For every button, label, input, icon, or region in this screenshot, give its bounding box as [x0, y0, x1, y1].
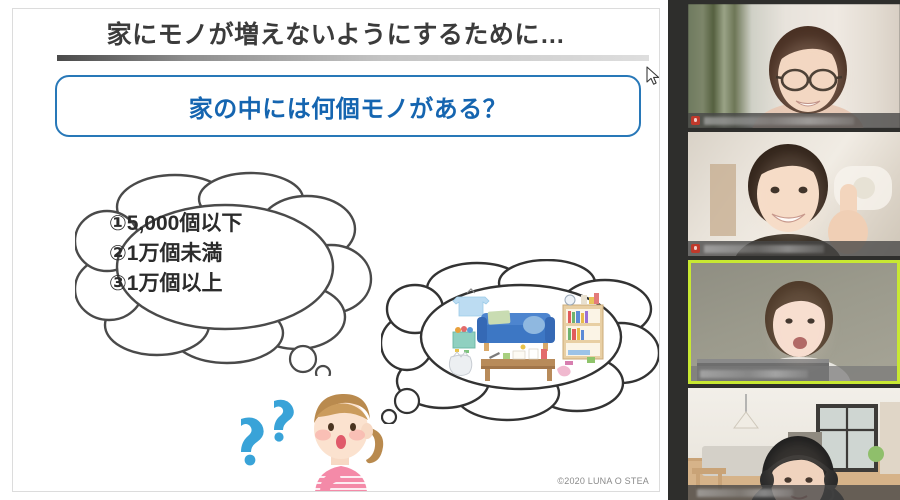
room-thought-cloud — [381, 259, 660, 424]
woman-thinking-icon — [281, 387, 401, 492]
floor-clutter-icon — [557, 357, 595, 376]
participant-portrait — [688, 4, 900, 128]
participant-name-redacted — [704, 245, 824, 253]
participant-tile[interactable] — [688, 4, 900, 128]
question-callout-box: 家の中には何個モノがある？ — [55, 75, 641, 137]
participant-name-strip — [688, 485, 900, 500]
room-scene-icon — [437, 287, 617, 387]
participant-name-redacted — [704, 117, 854, 125]
participant-video — [688, 132, 900, 256]
toy-box-icon — [453, 326, 475, 353]
answer-option: ②1万個未満 — [109, 239, 349, 269]
slide-title: 家にモノが増えないようにするために… — [13, 15, 659, 51]
bookshelf-icon — [563, 293, 603, 359]
participant-name-strip — [688, 241, 900, 256]
participant-video — [688, 388, 900, 500]
share-gutter — [668, 0, 688, 500]
participant-video — [688, 4, 900, 128]
participant-tile[interactable] — [688, 132, 900, 256]
copyright-notice: ©2020 LUNA O STEA — [557, 476, 649, 486]
participant-name-redacted — [700, 370, 808, 378]
participant-tile-active-speaker[interactable] — [688, 260, 900, 384]
app-root: 家にモノが増えないようにするために… 家の中には何個モノがある？ — [0, 0, 900, 500]
confused-woman-illustration — [281, 387, 401, 492]
sofa-icon — [477, 310, 555, 351]
answer-option: ①5,000個以下 — [109, 209, 349, 239]
participant-filmstrip[interactable] — [688, 0, 900, 500]
answer-options-list: ①5,000個以下 ②1万個未満 ③1万個以上 — [109, 209, 349, 298]
participant-tile[interactable] — [688, 388, 900, 500]
participant-portrait — [688, 132, 900, 256]
cluttered-room-illustration — [437, 287, 617, 387]
mic-muted-icon — [691, 116, 700, 125]
answers-thought-cloud: ①5,000個以下 ②1万個未満 ③1万個以上 — [75, 171, 375, 376]
presentation-slide[interactable]: 家にモノが増えないようにするために… 家の中には何個モノがある？ — [12, 8, 660, 492]
participant-name-strip — [688, 113, 900, 128]
participant-name-strip — [691, 366, 897, 381]
participant-name-redacted — [697, 489, 793, 497]
participant-portrait — [691, 263, 897, 381]
hanging-shirt-icon — [453, 289, 489, 316]
title-divider-rule — [57, 55, 649, 61]
low-table-icon — [481, 345, 555, 382]
mouse-cursor-icon — [646, 66, 660, 86]
participant-video — [691, 263, 897, 381]
trash-bag-icon — [449, 352, 471, 376]
answer-option: ③1万個以上 — [109, 269, 349, 299]
mic-muted-icon — [691, 244, 700, 253]
participant-portrait — [688, 388, 900, 500]
question-text: 家の中には何個モノがある？ — [189, 89, 508, 124]
screen-share-region[interactable]: 家にモノが増えないようにするために… 家の中には何個モノがある？ — [0, 0, 668, 500]
